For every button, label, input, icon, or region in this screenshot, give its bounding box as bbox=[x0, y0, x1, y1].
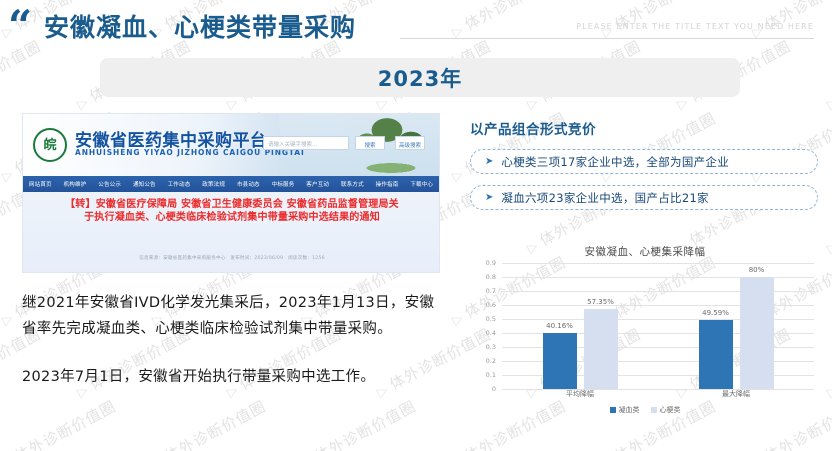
bar-chart: 安徽凝血、心梗集采降幅 0.90.80.70.60.50.40.30.20.10… bbox=[470, 244, 820, 434]
platform-nav-item-10[interactable]: 操作指南 bbox=[370, 180, 405, 188]
chart-bar-value-label: 80% bbox=[749, 266, 765, 274]
chart-legend-item: 凝血类 bbox=[610, 405, 640, 415]
header-divider bbox=[400, 38, 814, 39]
watermark-text: ▷体外诊断价值圈 bbox=[823, 179, 832, 257]
platform-nav-item-8[interactable]: 客户互动 bbox=[300, 180, 335, 188]
platform-search-button[interactable]: 搜索 bbox=[355, 136, 385, 150]
chart-legend-swatch bbox=[610, 407, 616, 413]
chart-x-label: 平均降幅 bbox=[502, 389, 658, 403]
platform-screenshot: 皖 安徽省医药集中采购平台 ANHUISHENG YIYAO JIZHONG C… bbox=[22, 113, 440, 273]
chart-y-tick: 0.2 bbox=[470, 357, 496, 365]
body-paragraph-1: 继2021年安徽省IVD化学发光集采后，2023年1月13日，安徽省率先完成凝血… bbox=[22, 290, 440, 342]
watermark-text: ▷体外诊断价值圈 bbox=[298, 395, 420, 451]
bullet-pill-2: ➤ 凝血六项23家企业中选，国产占比21家 bbox=[470, 185, 818, 210]
arrow-right-icon: ➤ bbox=[485, 192, 493, 203]
chart-y-tick: 0 bbox=[470, 385, 496, 393]
platform-advanced-search-button[interactable]: 高级搜索 bbox=[395, 136, 425, 150]
chart-legend-item: 心梗类 bbox=[651, 405, 681, 415]
chart-y-tick: 0.6 bbox=[470, 301, 496, 309]
page-title: 安徽凝血、心梗类带量采购 bbox=[44, 8, 356, 44]
platform-nav-item-4[interactable]: 工作动态 bbox=[162, 180, 197, 188]
chart-legend-swatch bbox=[651, 407, 657, 413]
chart-legend-label: 心梗类 bbox=[660, 405, 681, 415]
platform-nav-item-9[interactable]: 联系方式 bbox=[335, 180, 370, 188]
bullet-pill-1: ➤ 心梗类三项17家企业中选，全部为国产企业 bbox=[470, 149, 818, 174]
platform-search-input[interactable]: 请输入关键字搜索... bbox=[263, 136, 349, 150]
chart-x-label: 最大降幅 bbox=[658, 389, 814, 403]
platform-nav-bar[interactable]: 网站首页机构维护公告公示通知公告工作动态政策法规市县动态中标服务客户互动联系方式… bbox=[23, 176, 439, 192]
chart-y-tick: 0.9 bbox=[470, 259, 496, 267]
chart-y-tick: 0.5 bbox=[470, 315, 496, 323]
body-paragraph-2: 2023年7月1日，安徽省开始执行带量采购中选工作。 bbox=[22, 364, 440, 390]
chart-plot-area: 0.90.80.70.60.50.40.30.20.10 40.16%57.35… bbox=[470, 263, 820, 403]
platform-nav-item-3[interactable]: 通知公告 bbox=[127, 180, 162, 188]
slide-header: “ 安徽凝血、心梗类带量采购 PLEASE ENTER THE TITLE TE… bbox=[0, 0, 832, 52]
arrow-right-icon: ➤ bbox=[485, 156, 493, 167]
left-column: 皖 安徽省医药集中采购平台 ANHUISHENG YIYAO JIZHONG C… bbox=[22, 113, 440, 390]
notice-title: 【转】安徽省医疗保障局 安徽省卫生健康委员会 安徽省药品监督管理局关于执行凝血类… bbox=[63, 198, 401, 224]
chart-y-tick: 0.1 bbox=[470, 371, 496, 379]
platform-nav-item-2[interactable]: 公告公示 bbox=[92, 180, 127, 188]
bullet-pill-1-label: 心梗类三项17家企业中选，全部为国产企业 bbox=[501, 154, 729, 170]
watermark-text: ▷体外诊断价值圈 bbox=[823, 323, 832, 401]
platform-nav-item-5[interactable]: 政策法规 bbox=[196, 180, 231, 188]
chart-y-tick: 0.3 bbox=[470, 343, 496, 351]
chart-x-axis-labels: 平均降幅最大降幅 bbox=[502, 389, 814, 403]
chart-bar-value-label: 49.59% bbox=[702, 309, 729, 317]
platform-nav-item-6[interactable]: 市县动态 bbox=[231, 180, 266, 188]
chart-y-tick: 0.7 bbox=[470, 287, 496, 295]
chart-y-tick: 0.8 bbox=[470, 273, 496, 281]
quote-mark-icon: “ bbox=[8, 8, 30, 44]
watermark-text: ▷体外诊断价值圈 bbox=[148, 395, 270, 451]
right-panel-heading: 以产品组合形式竞价 bbox=[470, 118, 818, 138]
year-banner-label: 2023年 bbox=[100, 58, 740, 97]
platform-nav-item-1[interactable]: 机构维护 bbox=[58, 180, 93, 188]
header-subtitle-en: PLEASE ENTER THE TITLE TEXT YOU NEED HER… bbox=[576, 22, 814, 31]
chart-bar: 40.16% bbox=[543, 333, 577, 389]
chart-legend: 凝血类心梗类 bbox=[470, 405, 820, 415]
chart-bar-group: 40.16%57.35% bbox=[502, 263, 658, 389]
slide-root: ▷体外诊断价值圈▷体外诊断价值圈▷体外诊断价值圈▷体外诊断价值圈▷体外诊断价值圈… bbox=[0, 0, 832, 451]
bullet-pill-2-label: 凝血六项23家企业中选，国产占比21家 bbox=[501, 190, 708, 206]
chart-y-tick: 0.4 bbox=[470, 329, 496, 337]
chart-title: 安徽凝血、心梗集采降幅 bbox=[470, 244, 820, 259]
notice-meta: 信息来源：安徽省医药集中采购服务中心 发布时间：2023/06/09 阅读次数：… bbox=[63, 255, 401, 261]
platform-nav-item-11[interactable]: 下载中心 bbox=[404, 180, 439, 188]
platform-logo-icon: 皖 bbox=[33, 128, 67, 162]
chart-bar-value-label: 57.35% bbox=[587, 298, 614, 306]
chart-bar-groups: 40.16%57.35%49.59%80% bbox=[502, 263, 814, 389]
chart-bar-value-label: 40.16% bbox=[546, 322, 573, 330]
chart-bar: 57.35% bbox=[584, 309, 618, 389]
chart-bar: 80% bbox=[740, 277, 774, 389]
platform-nav-item-0[interactable]: 网站首页 bbox=[23, 180, 58, 188]
right-column: 以产品组合形式竞价 ➤ 心梗类三项17家企业中选，全部为国产企业 ➤ 凝血六项2… bbox=[470, 118, 818, 210]
chart-legend-label: 凝血类 bbox=[619, 405, 640, 415]
platform-logo-text: 皖 bbox=[43, 139, 56, 152]
watermark-text: ▷体外诊断价值圈 bbox=[0, 395, 120, 451]
platform-nav-item-7[interactable]: 中标服务 bbox=[266, 180, 301, 188]
chart-bar: 49.59% bbox=[699, 320, 733, 389]
chart-bar-group: 49.59%80% bbox=[658, 263, 814, 389]
